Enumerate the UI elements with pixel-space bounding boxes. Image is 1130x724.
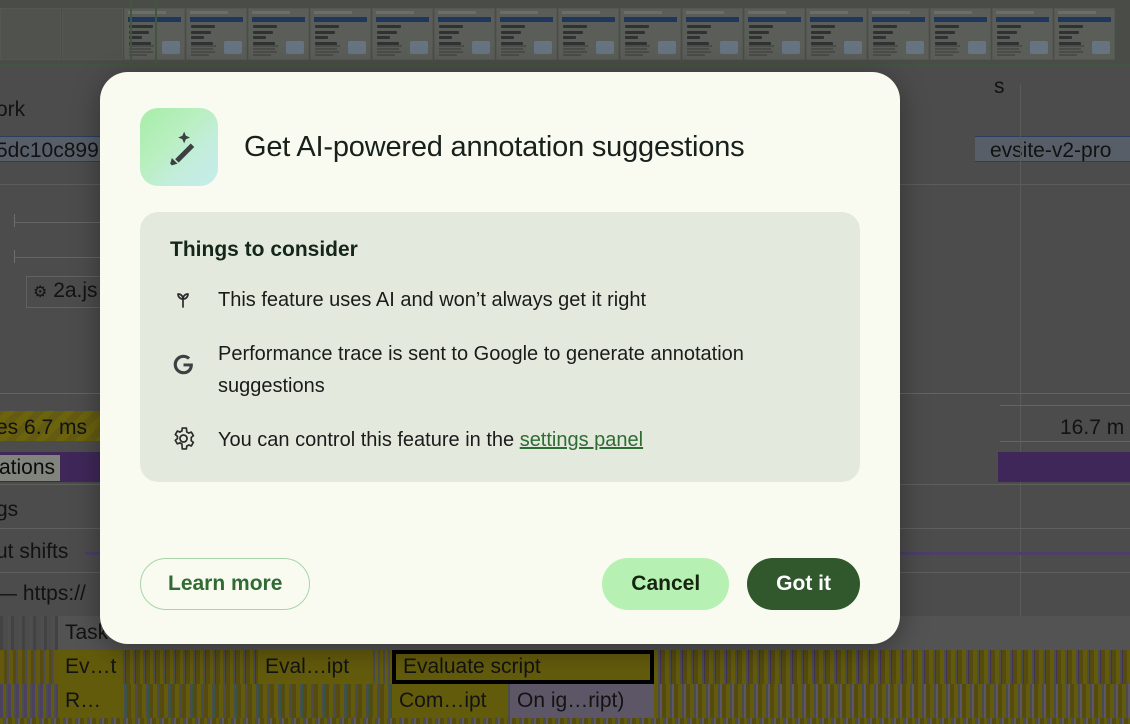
screen: ork 5dc10c899 s evsite-v2-pro ⚙ 2a.js es… bbox=[0, 0, 1130, 724]
dialog-actions: Learn more Cancel Got it bbox=[140, 558, 860, 610]
google-g-icon bbox=[170, 338, 196, 377]
list-item-text: Performance trace is sent to Google to g… bbox=[218, 338, 832, 402]
things-to-consider-card: Things to consider This feature uses AI … bbox=[140, 212, 860, 482]
dialog-header: Get AI-powered annotation suggestions bbox=[140, 108, 860, 186]
list-item-text: You can control this feature in the sett… bbox=[218, 424, 643, 456]
settings-panel-link[interactable]: settings panel bbox=[520, 429, 643, 451]
consider-heading: Things to consider bbox=[170, 238, 832, 262]
ai-annotation-dialog: Get AI-powered annotation suggestions Th… bbox=[100, 72, 900, 644]
consider-list: This feature uses AI and won’t always ge… bbox=[170, 284, 832, 456]
settings-text-prefix: You can control this feature in the bbox=[218, 429, 520, 451]
list-item: Performance trace is sent to Google to g… bbox=[170, 338, 832, 402]
learn-more-button[interactable]: Learn more bbox=[140, 558, 310, 610]
list-item: This feature uses AI and won’t always ge… bbox=[170, 284, 832, 316]
sprout-icon bbox=[170, 284, 196, 310]
list-item-text: This feature uses AI and won’t always ge… bbox=[218, 284, 646, 316]
gear-icon bbox=[170, 424, 196, 451]
dialog-title: Get AI-powered annotation suggestions bbox=[244, 131, 744, 164]
primary-actions: Cancel Got it bbox=[602, 558, 860, 610]
cancel-button[interactable]: Cancel bbox=[602, 558, 729, 610]
magic-pencil-sparkle-icon bbox=[140, 108, 218, 186]
got-it-button[interactable]: Got it bbox=[747, 558, 860, 610]
list-item: You can control this feature in the sett… bbox=[170, 424, 832, 456]
